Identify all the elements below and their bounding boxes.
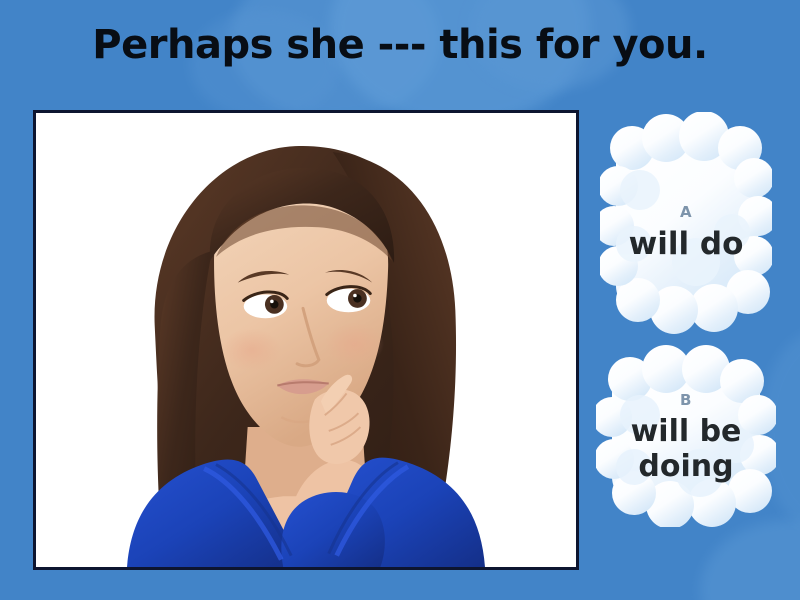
background-cloud-blob [700, 520, 800, 600]
answer-b-content: B will be doing [596, 345, 776, 527]
question-image-frame [33, 110, 579, 570]
answer-b-text: will be doing [598, 414, 774, 484]
answer-a-content: A will do [600, 112, 772, 338]
answer-a-text: will do [629, 226, 744, 262]
answer-option-b[interactable]: B will be doing [596, 345, 776, 527]
quiz-stage: Perhaps she --- this for you. [0, 0, 800, 600]
answer-option-a[interactable]: A will do [600, 112, 772, 338]
question-title-bar: Perhaps she --- this for you. [0, 22, 800, 68]
thinking-woman-photo [36, 113, 576, 567]
answer-a-letter: A [680, 204, 692, 220]
question-title: Perhaps she --- this for you. [92, 22, 707, 68]
answer-b-letter: B [680, 392, 692, 408]
